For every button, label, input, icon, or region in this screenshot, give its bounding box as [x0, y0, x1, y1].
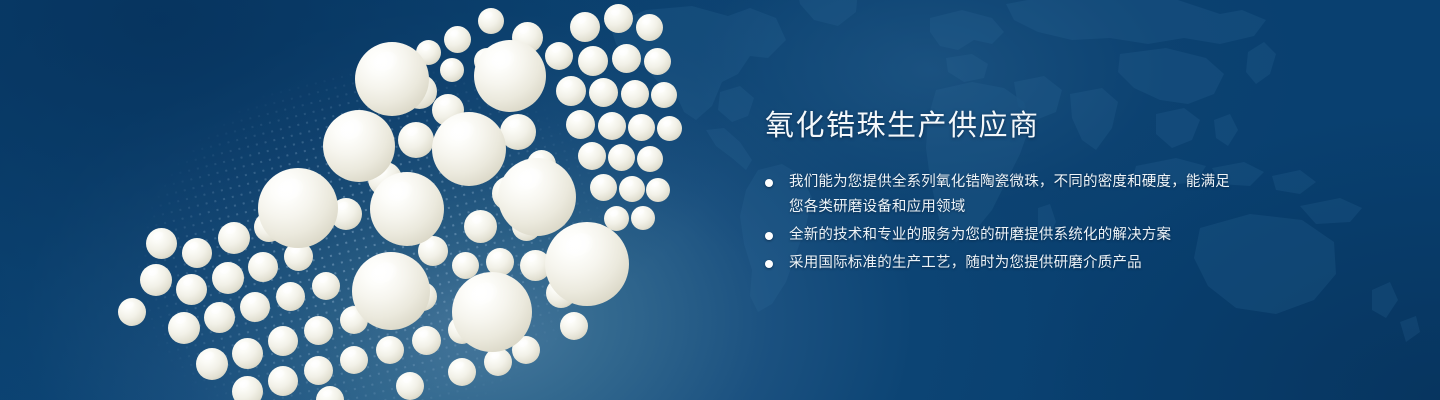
hero-banner: 氧化锆珠生产供应商 我们能为您提供全系列氧化锆陶瓷微珠，不同的密度和硬度，能满足…: [0, 0, 1440, 400]
list-item-label: 全新的技术和专业的服务为您的研磨提供系统化的解决方案: [789, 223, 1235, 248]
list-item: 我们能为您提供全系列氧化锆陶瓷微珠，不同的密度和硬度，能满足您各类研磨设备和应用…: [765, 170, 1235, 220]
banner-text-block: 氧化锆珠生产供应商 我们能为您提供全系列氧化锆陶瓷微珠，不同的密度和硬度，能满足…: [765, 108, 1235, 279]
list-item: 全新的技术和专业的服务为您的研磨提供系统化的解决方案: [765, 223, 1235, 248]
bullet-dot-icon: [765, 179, 773, 187]
bullet-dot-icon: [765, 232, 773, 240]
bullet-dot-icon: [765, 260, 773, 268]
list-item: 采用国际标准的生产工艺，随时为您提供研磨介质产品: [765, 251, 1235, 276]
feature-list: 我们能为您提供全系列氧化锆陶瓷微珠，不同的密度和硬度，能满足您各类研磨设备和应用…: [765, 170, 1235, 276]
list-item-label: 我们能为您提供全系列氧化锆陶瓷微珠，不同的密度和硬度，能满足您各类研磨设备和应用…: [789, 170, 1235, 220]
list-item-label: 采用国际标准的生产工艺，随时为您提供研磨介质产品: [789, 251, 1235, 276]
page-title: 氧化锆珠生产供应商: [765, 108, 1235, 144]
